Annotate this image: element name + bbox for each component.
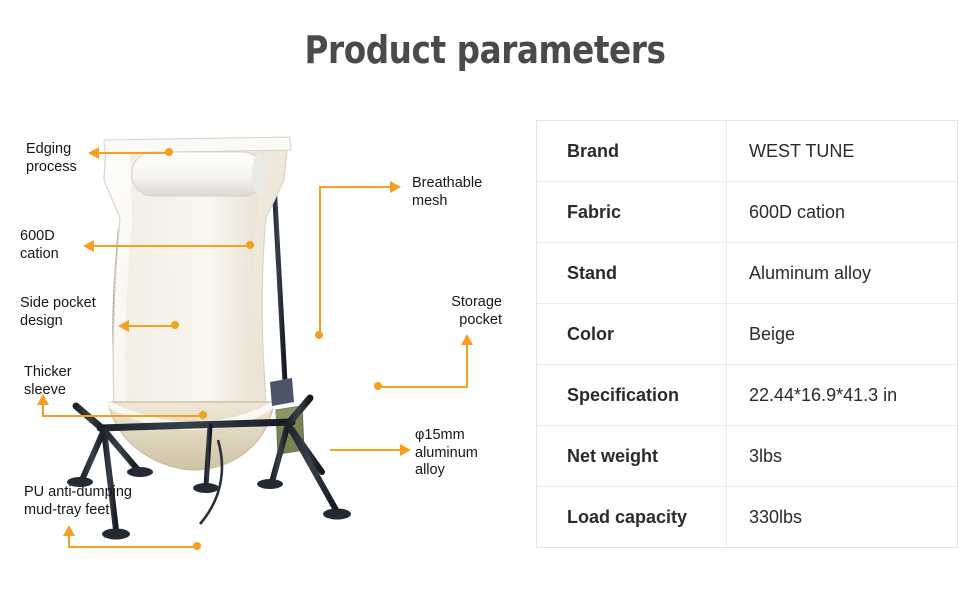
leader-aluminum-alloy xyxy=(330,449,402,451)
leader-thicker-sleeve-v xyxy=(42,404,44,416)
param-value: Aluminum alloy xyxy=(727,243,957,303)
arrow-600d-cation xyxy=(83,240,94,252)
leader-600d-cation xyxy=(92,245,250,247)
dot-storage-pocket xyxy=(374,382,382,390)
edging-strip-top xyxy=(104,137,291,153)
param-value: 22.44*16.9*41.3 in xyxy=(727,365,957,425)
param-key: Specification xyxy=(537,365,727,425)
product-parameters-table: Brand WEST TUNE Fabric 600D cation Stand… xyxy=(536,120,958,548)
page-title: Product parameters xyxy=(68,28,902,72)
arrow-side-pocket-design xyxy=(118,320,129,332)
dot-600d-cation xyxy=(246,241,254,249)
annotation-aluminum-alloy: φ15mm aluminum alloy xyxy=(415,427,478,480)
table-row: Load capacity 330lbs xyxy=(537,487,957,547)
arrow-breathable-mesh xyxy=(390,181,401,193)
leader-pu-feet-v xyxy=(68,535,70,547)
table-row: Color Beige xyxy=(537,304,957,365)
annotation-600d-cation: 600D cation xyxy=(20,228,59,263)
param-key: Net weight xyxy=(537,426,727,486)
arrow-edging-process xyxy=(88,147,99,159)
leader-edging-process xyxy=(97,152,169,154)
arrow-thicker-sleeve xyxy=(37,394,49,405)
arrow-aluminum-alloy xyxy=(400,444,411,456)
dot-side-pocket-design xyxy=(171,321,179,329)
annotation-edging-process: Edging process xyxy=(26,141,77,176)
param-value: 330lbs xyxy=(727,487,957,547)
headrest-pillow xyxy=(132,152,266,196)
leader-pu-feet-h xyxy=(68,546,198,548)
table-row: Brand WEST TUNE xyxy=(537,121,957,182)
leader-storage-pocket-v xyxy=(466,344,468,388)
param-key: Brand xyxy=(537,121,727,181)
annotation-side-pocket-design: Side pocket design xyxy=(20,295,96,330)
param-value: WEST TUNE xyxy=(727,121,957,181)
annotation-pu-mud-tray-feet: PU anti-dumping mud-tray feet xyxy=(24,484,132,519)
dot-edging-process xyxy=(165,148,173,156)
dot-thicker-sleeve xyxy=(199,411,207,419)
product-parameters-page: Product parameters xyxy=(0,0,970,600)
table-row: Net weight 3lbs xyxy=(537,426,957,487)
annotation-storage-pocket: Storage pocket xyxy=(430,294,502,329)
leader-side-pocket-design xyxy=(127,325,175,327)
param-value: 600D cation xyxy=(727,182,957,242)
side-tab xyxy=(270,378,294,406)
annotation-breathable-mesh: Breathable mesh xyxy=(412,175,482,210)
param-key: Color xyxy=(537,304,727,364)
leader-storage-pocket-h xyxy=(378,386,468,388)
param-key: Fabric xyxy=(537,182,727,242)
table-row: Stand Aluminum alloy xyxy=(537,243,957,304)
leader-thicker-sleeve-h xyxy=(42,415,204,417)
dot-pu-feet xyxy=(193,542,201,550)
arrow-storage-pocket xyxy=(461,334,473,345)
leader-breathable-mesh-v xyxy=(319,186,321,336)
table-row: Fabric 600D cation xyxy=(537,182,957,243)
param-key: Stand xyxy=(537,243,727,303)
param-key: Load capacity xyxy=(537,487,727,547)
param-value: 3lbs xyxy=(727,426,957,486)
table-row: Specification 22.44*16.9*41.3 in xyxy=(537,365,957,426)
arrow-pu-feet xyxy=(63,525,75,536)
leader-breathable-mesh-h xyxy=(319,186,391,188)
dot-breathable-mesh xyxy=(315,331,323,339)
param-value: Beige xyxy=(727,304,957,364)
